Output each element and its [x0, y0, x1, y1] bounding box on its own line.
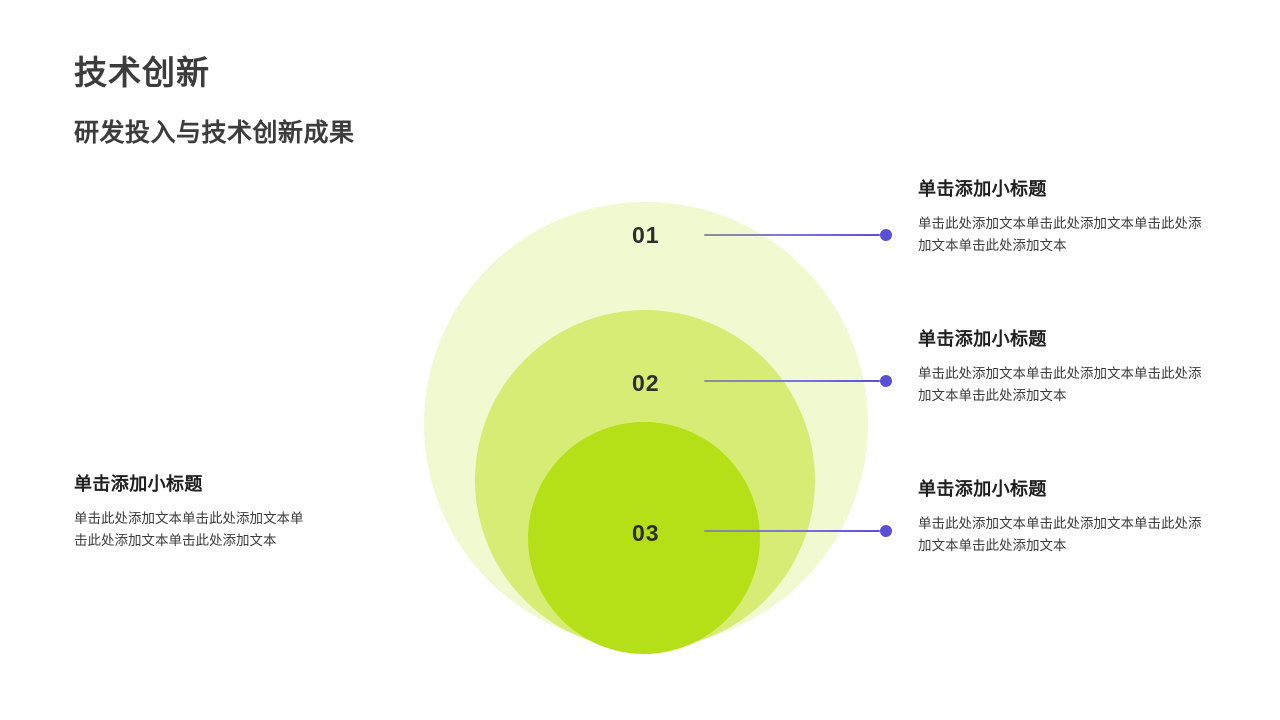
- connector-stem-02: [704, 380, 880, 382]
- connector-line-03: [704, 525, 892, 537]
- callout-left[interactable]: 单击添加小标题 单击此处添加文本单击此处添加文本单击此处添加文本单击此处添加文本: [74, 470, 314, 552]
- callout-03-heading: 单击添加小标题: [918, 475, 1206, 501]
- page-title: 技术创新: [74, 52, 494, 93]
- connector-stem-01: [704, 234, 880, 236]
- callout-03-body: 单击此处添加文本单击此处添加文本单击此处添加文本单击此处添加文本: [918, 513, 1206, 557]
- callout-02-body: 单击此处添加文本单击此处添加文本单击此处添加文本单击此处添加文本: [918, 363, 1206, 407]
- connector-line-01: [704, 229, 892, 241]
- callout-left-heading: 单击添加小标题: [74, 470, 314, 496]
- connector-dot-02[interactable]: [880, 375, 892, 387]
- callout-02[interactable]: 单击添加小标题 单击此处添加文本单击此处添加文本单击此处添加文本单击此处添加文本: [918, 325, 1206, 407]
- connector-dot-03[interactable]: [880, 525, 892, 537]
- callout-left-body: 单击此处添加文本单击此处添加文本单击此处添加文本单击此处添加文本: [74, 508, 314, 552]
- callout-02-heading: 单击添加小标题: [918, 325, 1206, 351]
- ring-number-02: 02: [632, 370, 660, 397]
- ring-number-01: 01: [632, 222, 660, 249]
- title-block: 技术创新 研发投入与技术创新成果: [74, 52, 494, 152]
- nested-circle-diagram: [424, 202, 868, 650]
- callout-01-heading: 单击添加小标题: [918, 175, 1206, 201]
- slide-canvas: 技术创新 研发投入与技术创新成果 01 02 03 单击添加小标题 单击此处添加…: [0, 0, 1280, 720]
- connector-line-02: [704, 375, 892, 387]
- connector-stem-03: [704, 530, 880, 532]
- callout-01-body: 单击此处添加文本单击此处添加文本单击此处添加文本单击此处添加文本: [918, 213, 1206, 257]
- page-subtitle: 研发投入与技术创新成果: [74, 115, 384, 151]
- ring-number-03: 03: [632, 520, 660, 547]
- callout-01[interactable]: 单击添加小标题 单击此处添加文本单击此处添加文本单击此处添加文本单击此处添加文本: [918, 175, 1206, 257]
- callout-03[interactable]: 单击添加小标题 单击此处添加文本单击此处添加文本单击此处添加文本单击此处添加文本: [918, 475, 1206, 557]
- connector-dot-01[interactable]: [880, 229, 892, 241]
